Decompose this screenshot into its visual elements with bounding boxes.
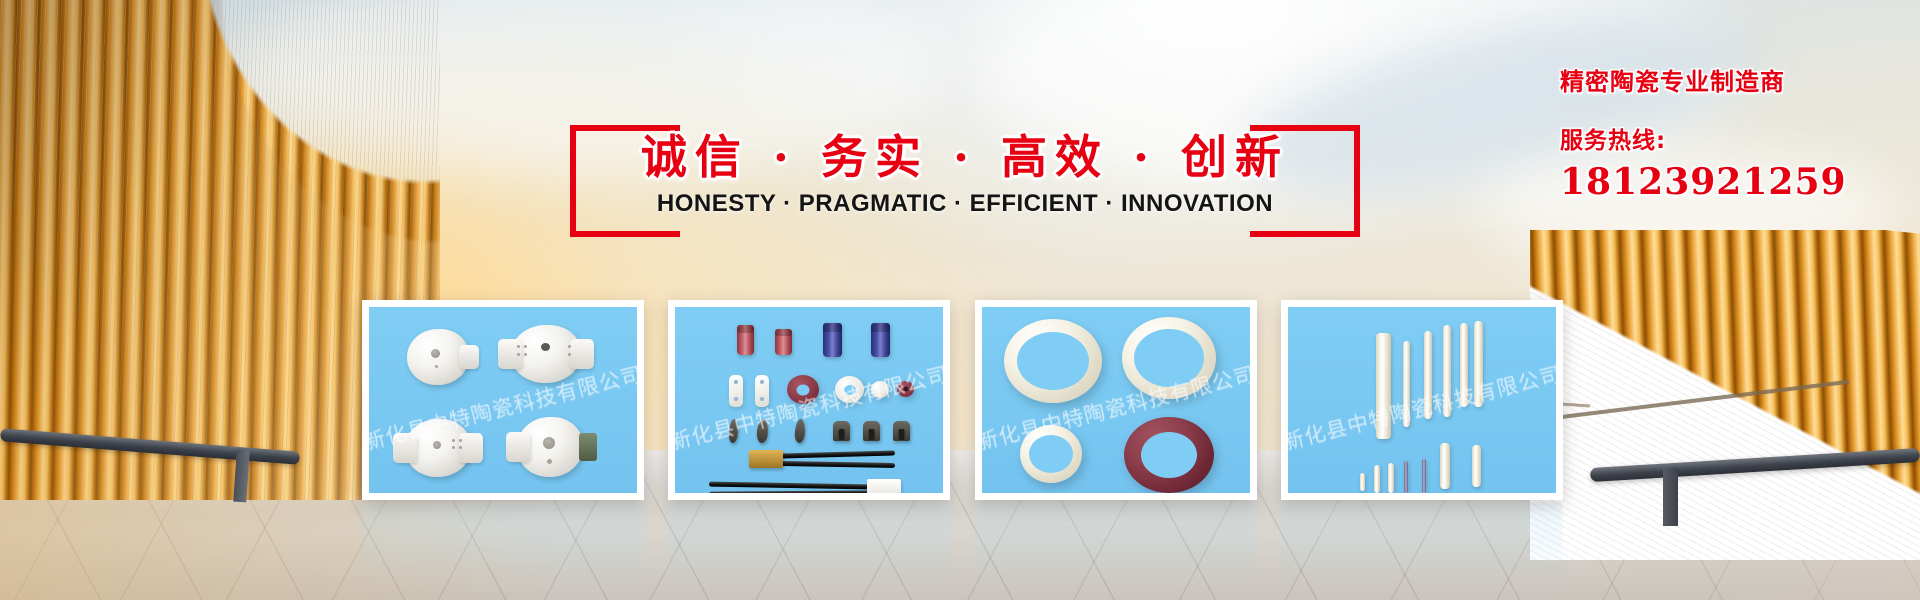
product-panel-sockets[interactable]: 新化县中特陶瓷科技有限公司 — [362, 300, 644, 500]
ceramic-pin — [1388, 463, 1394, 493]
metal-contact — [893, 421, 910, 441]
panel-watermark: 新化县中特陶瓷科技有限公司 — [675, 358, 943, 456]
ceramic-ring-small — [1020, 425, 1082, 483]
ceramic-ring-large — [1004, 319, 1102, 403]
company-tagline: 精密陶瓷专业制造商 — [1560, 62, 1900, 97]
slogan-block: 诚信 · 务实 · 高效 · 创新 HONESTY · PRAGMATIC · … — [570, 125, 1360, 240]
product-panel-components[interactable]: 新化县中特陶瓷科技有限公司 — [668, 300, 950, 500]
ceramic-rod — [1474, 321, 1483, 407]
ceramic-ring-large — [1122, 317, 1216, 399]
metal-contact — [833, 421, 850, 441]
sealing-ring — [787, 375, 819, 404]
ceramic-plate — [755, 375, 769, 407]
product-panel-rings[interactable]: 新化县中特陶瓷科技有限公司 — [975, 300, 1257, 500]
lead-wire — [779, 450, 895, 458]
ceramic-rod — [1403, 341, 1410, 427]
sealing-washer — [897, 381, 914, 397]
panel-image-rings: 新化县中特陶瓷科技有限公司 — [982, 307, 1250, 493]
panel-watermark: 新化县中特陶瓷科技有限公司 — [1288, 358, 1556, 456]
ceramic-rod — [1424, 331, 1432, 419]
slogan-chinese: 诚信 · 务实 · 高效 · 创新 — [570, 121, 1360, 187]
white-connector-housing — [867, 479, 901, 493]
brass-terminal — [749, 450, 783, 468]
ceramic-pin — [1360, 473, 1365, 491]
lead-wire — [779, 461, 895, 468]
panel-image-sockets: 新化县中特陶瓷科技有限公司 — [369, 307, 637, 493]
sealing-ring — [835, 376, 864, 403]
hotline-number[interactable]: 18123921259 — [1560, 161, 1900, 203]
ceramic-rod — [1460, 323, 1468, 407]
ceramic-pin — [1440, 443, 1450, 489]
insulating-sleeve — [775, 329, 792, 355]
ceramic-socket — [407, 329, 469, 385]
product-panel-rods[interactable]: 新化县中特陶瓷科技有限公司 — [1281, 300, 1563, 500]
banner-stage: 新化县中特陶瓷科技有限公司 — [0, 0, 1920, 600]
hotline-label: 服务热线: — [1560, 121, 1900, 155]
ceramic-rod — [1443, 325, 1451, 417]
ceramic-socket — [511, 325, 581, 383]
slogan-english: HONESTY · PRAGMATIC · EFFICIENT · INNOVA… — [570, 190, 1360, 218]
lead-wire — [709, 490, 869, 493]
insulating-sleeve — [823, 323, 842, 357]
ceramic-pin — [1404, 461, 1408, 493]
metal-clip — [728, 419, 739, 444]
insulating-sleeve — [737, 325, 754, 355]
insulating-sleeve — [871, 323, 890, 357]
metal-contact — [863, 421, 880, 441]
ceramic-pin — [1472, 445, 1481, 487]
panel-image-components: 新化县中特陶瓷科技有限公司 — [675, 307, 943, 493]
ceramic-pin — [1422, 459, 1426, 493]
ceramic-socket — [517, 417, 583, 477]
ceramic-pin — [1374, 465, 1380, 493]
ceramic-socket — [405, 419, 471, 477]
ceramic-ring-wine — [1124, 417, 1214, 493]
ceramic-rod — [1376, 333, 1391, 439]
ceramic-plate — [729, 375, 743, 407]
contact-block: 精密陶瓷专业制造商 服务热线: 18123921259 — [1560, 62, 1900, 203]
metal-clip — [756, 419, 769, 444]
lead-wire — [709, 482, 869, 490]
metal-clip — [794, 419, 806, 444]
panel-image-rods: 新化县中特陶瓷科技有限公司 — [1288, 307, 1556, 493]
sealing-washer — [871, 381, 889, 398]
